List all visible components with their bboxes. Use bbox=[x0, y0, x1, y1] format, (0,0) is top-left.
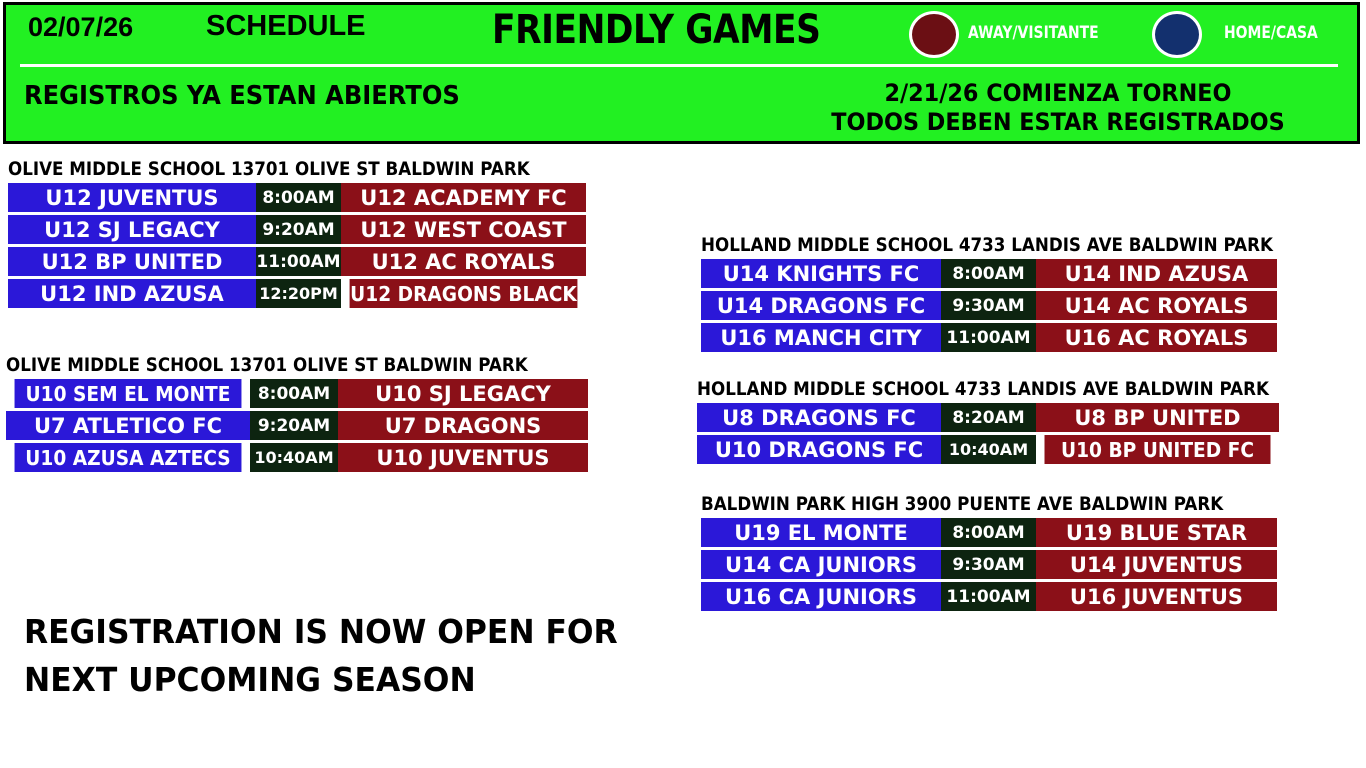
notice-line-2: NEXT UPCOMING SEASON bbox=[24, 656, 613, 704]
away-team: U16 JUVENTUS bbox=[1036, 582, 1277, 611]
home-team: U14 DRAGONS FC bbox=[701, 291, 941, 320]
venue-block: OLIVE MIDDLE SCHOOL 13701 OLIVE ST BALDW… bbox=[8, 159, 586, 311]
match-list: U14 KNIGHTS FC 8:00AM U14 IND AZUSA U14 … bbox=[701, 259, 1279, 352]
home-team: U7 ATLETICO FC bbox=[6, 411, 250, 440]
away-team: U16 AC ROYALS bbox=[1036, 323, 1277, 352]
match-time: 11:00AM bbox=[941, 323, 1036, 352]
table-row: U14 DRAGONS FC 9:30AM U14 AC ROYALS bbox=[701, 291, 1279, 320]
venue-title: HOLLAND MIDDLE SCHOOL 4733 LANDIS AVE BA… bbox=[697, 379, 1211, 400]
away-team: U8 BP UNITED bbox=[1036, 403, 1279, 432]
match-list: U8 DRAGONS FC 8:20AM U8 BP UNITED U10 DR… bbox=[697, 403, 1281, 464]
banner-divider bbox=[20, 64, 1338, 67]
match-time: 9:20AM bbox=[250, 411, 338, 440]
registration-open-spanish: REGISTROS YA ESTAN ABIERTOS bbox=[24, 81, 460, 111]
home-team: U16 CA JUNIORS bbox=[701, 582, 941, 611]
table-row: U19 EL MONTE 8:00AM U19 BLUE STAR bbox=[701, 518, 1279, 547]
tournament-start-line: 2/21/26 COMIENZA TORNEO bbox=[784, 79, 1333, 108]
match-list: U10 SEM EL MONTE 8:00AM U10 SJ LEGACY U7… bbox=[6, 379, 594, 472]
table-row: U16 MANCH CITY 11:00AM U16 AC ROYALS bbox=[701, 323, 1279, 352]
match-list: U12 JUVENTUS 8:00AM U12 ACADEMY FC U12 S… bbox=[8, 183, 586, 308]
match-time: 12:20PM bbox=[256, 279, 341, 308]
match-time: 11:00AM bbox=[941, 582, 1036, 611]
away-legend-circle-icon bbox=[909, 11, 959, 58]
match-time: 10:40AM bbox=[250, 443, 338, 472]
table-row: U16 CA JUNIORS 11:00AM U16 JUVENTUS bbox=[701, 582, 1279, 611]
away-team: U10 SJ LEGACY bbox=[338, 379, 588, 408]
away-team: U7 DRAGONS bbox=[338, 411, 588, 440]
away-team: U12 DRAGONS BLACK bbox=[350, 279, 578, 308]
venue-title: OLIVE MIDDLE SCHOOL 13701 OLIVE ST BALDW… bbox=[8, 159, 517, 180]
match-time: 8:00AM bbox=[250, 379, 338, 408]
must-register-line: TODOS DEBEN ESTAR REGISTRADOS bbox=[784, 108, 1333, 137]
tournament-notice-spanish: 2/21/26 COMIENZA TORNEO TODOS DEBEN ESTA… bbox=[763, 79, 1353, 137]
away-team: U19 BLUE STAR bbox=[1036, 518, 1277, 547]
venue-block: BALDWIN PARK HIGH 3900 PUENTE AVE BALDWI… bbox=[701, 494, 1279, 614]
home-team: U10 DRAGONS FC bbox=[697, 435, 941, 464]
home-team: U10 SEM EL MONTE bbox=[15, 379, 242, 408]
home-team: U14 CA JUNIORS bbox=[701, 550, 941, 579]
home-team: U16 MANCH CITY bbox=[701, 323, 941, 352]
home-team: U12 JUVENTUS bbox=[8, 183, 256, 212]
away-team: U12 AC ROYALS bbox=[341, 247, 586, 276]
away-team: U12 WEST COAST bbox=[341, 215, 586, 244]
home-team: U12 SJ LEGACY bbox=[8, 215, 256, 244]
venue-title: BALDWIN PARK HIGH 3900 PUENTE AVE BALDWI… bbox=[701, 494, 1210, 515]
schedule-date: 02/07/26 bbox=[28, 12, 133, 43]
match-time: 8:20AM bbox=[941, 403, 1036, 432]
away-team: U10 BP UNITED FC bbox=[1045, 435, 1271, 464]
notice-line-1: REGISTRATION IS NOW OPEN FOR bbox=[24, 608, 613, 656]
home-legend-circle-icon bbox=[1152, 11, 1202, 58]
registration-notice: REGISTRATION IS NOW OPEN FOR NEXT UPCOMI… bbox=[24, 608, 644, 704]
table-row: U10 SEM EL MONTE 8:00AM U10 SJ LEGACY bbox=[6, 379, 594, 408]
header-banner: 02/07/26 SCHEDULE FRIENDLY GAMES AWAY/VI… bbox=[3, 2, 1360, 144]
venue-title: OLIVE MIDDLE SCHOOL 13701 OLIVE ST BALDW… bbox=[6, 355, 523, 376]
venue-title: HOLLAND MIDDLE SCHOOL 4733 LANDIS AVE BA… bbox=[701, 235, 1210, 256]
schedule-label: SCHEDULE bbox=[206, 10, 366, 43]
page-title: FRIENDLY GAMES bbox=[492, 7, 820, 53]
match-time: 11:00AM bbox=[256, 247, 341, 276]
home-legend-label: HOME/CASA bbox=[1224, 23, 1318, 43]
away-team: U14 JUVENTUS bbox=[1036, 550, 1277, 579]
home-team: U19 EL MONTE bbox=[701, 518, 941, 547]
table-row: U12 SJ LEGACY 9:20AM U12 WEST COAST bbox=[8, 215, 586, 244]
venue-block: HOLLAND MIDDLE SCHOOL 4733 LANDIS AVE BA… bbox=[697, 379, 1281, 467]
away-team: U14 IND AZUSA bbox=[1036, 259, 1277, 288]
match-time: 9:30AM bbox=[941, 291, 1036, 320]
away-team: U12 ACADEMY FC bbox=[341, 183, 586, 212]
home-team: U8 DRAGONS FC bbox=[697, 403, 941, 432]
venue-block: HOLLAND MIDDLE SCHOOL 4733 LANDIS AVE BA… bbox=[701, 235, 1279, 355]
match-time: 8:00AM bbox=[941, 259, 1036, 288]
table-row: U12 JUVENTUS 8:00AM U12 ACADEMY FC bbox=[8, 183, 586, 212]
banner-top-row: 02/07/26 SCHEDULE FRIENDLY GAMES AWAY/VI… bbox=[6, 5, 1357, 65]
table-row: U12 IND AZUSA 12:20PM U12 DRAGONS BLACK bbox=[8, 279, 586, 308]
table-row: U8 DRAGONS FC 8:20AM U8 BP UNITED bbox=[697, 403, 1281, 432]
match-time: 9:20AM bbox=[256, 215, 341, 244]
table-row: U14 KNIGHTS FC 8:00AM U14 IND AZUSA bbox=[701, 259, 1279, 288]
match-time: 9:30AM bbox=[941, 550, 1036, 579]
table-row: U12 BP UNITED 11:00AM U12 AC ROYALS bbox=[8, 247, 586, 276]
venue-block: OLIVE MIDDLE SCHOOL 13701 OLIVE ST BALDW… bbox=[6, 355, 594, 475]
home-team: U12 BP UNITED bbox=[8, 247, 256, 276]
home-team: U10 AZUSA AZTECS bbox=[15, 443, 242, 472]
home-team: U14 KNIGHTS FC bbox=[701, 259, 941, 288]
away-team: U14 AC ROYALS bbox=[1036, 291, 1277, 320]
match-list: U19 EL MONTE 8:00AM U19 BLUE STAR U14 CA… bbox=[701, 518, 1279, 611]
away-legend-label: AWAY/VISITANTE bbox=[968, 23, 1099, 43]
match-time: 8:00AM bbox=[256, 183, 341, 212]
home-team: U12 IND AZUSA bbox=[8, 279, 256, 308]
table-row: U7 ATLETICO FC 9:20AM U7 DRAGONS bbox=[6, 411, 594, 440]
table-row: U14 CA JUNIORS 9:30AM U14 JUVENTUS bbox=[701, 550, 1279, 579]
away-team: U10 JUVENTUS bbox=[338, 443, 588, 472]
match-time: 10:40AM bbox=[941, 435, 1036, 464]
match-time: 8:00AM bbox=[941, 518, 1036, 547]
table-row: U10 AZUSA AZTECS 10:40AM U10 JUVENTUS bbox=[6, 443, 594, 472]
table-row: U10 DRAGONS FC 10:40AM U10 BP UNITED FC bbox=[697, 435, 1281, 464]
